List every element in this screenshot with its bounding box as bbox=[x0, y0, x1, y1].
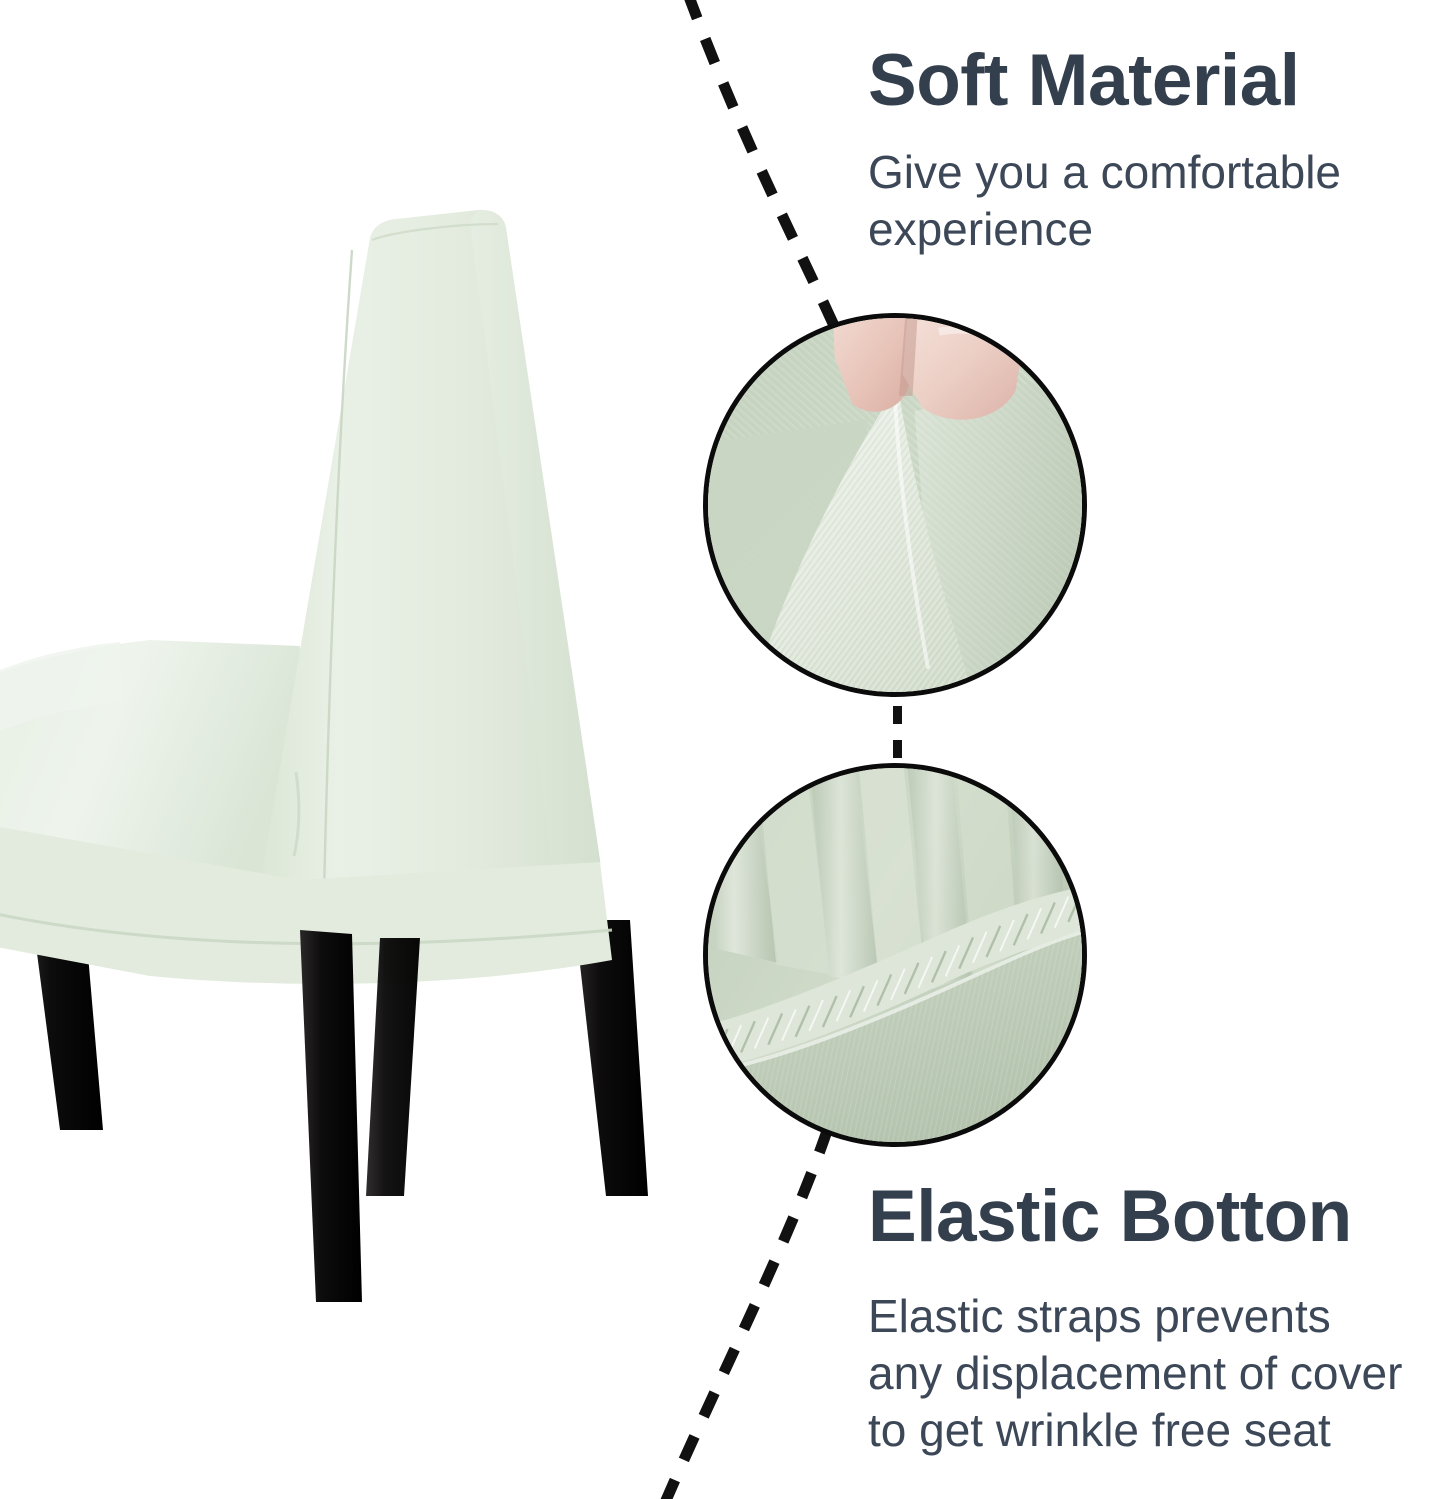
infographic-canvas: Soft Material Give you a comfortable exp… bbox=[0, 0, 1445, 1499]
feature-description-elastic-bottom: Elastic straps prevents any displacement… bbox=[868, 1288, 1413, 1459]
feature-text-soft-material: Soft Material Give you a comfortable exp… bbox=[868, 44, 1388, 258]
chair-illustration bbox=[0, 0, 760, 1400]
feature-title-elastic-bottom: Elastic Botton bbox=[868, 1180, 1413, 1254]
feature-text-elastic-bottom: Elastic Botton Elastic straps prevents a… bbox=[868, 1180, 1413, 1459]
detail-photo-soft-material bbox=[703, 313, 1087, 697]
chair-leg-front-left bbox=[300, 930, 362, 1302]
feature-title-soft-material: Soft Material bbox=[868, 44, 1388, 118]
product-chair-image bbox=[0, 0, 760, 1400]
circle-connector-dashes bbox=[893, 706, 902, 758]
feature-description-soft-material: Give you a comfortable experience bbox=[868, 144, 1388, 258]
detail-photo-elastic-bottom bbox=[703, 763, 1087, 1147]
